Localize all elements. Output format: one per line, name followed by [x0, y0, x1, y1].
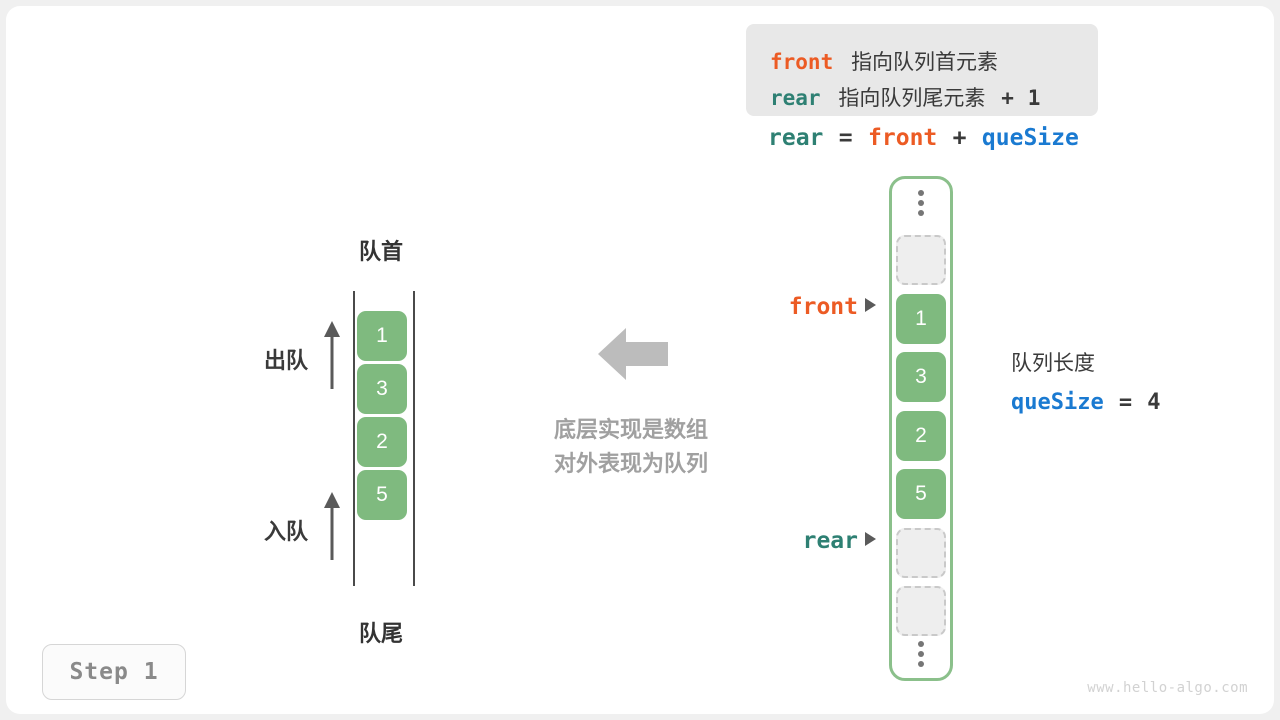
diagram-card: front 指向队列首元素 rear 指向队列尾元素 + 1 rear = fr…	[6, 6, 1274, 714]
quesize-equals: =	[1119, 390, 1132, 415]
array-bottom-ellipsis-icon	[892, 634, 950, 674]
enqueue-label: 入队	[218, 514, 308, 546]
queue-head-label: 队首	[311, 234, 451, 266]
center-caption-line1: 底层实现是数组	[511, 414, 751, 448]
queue-cell: 5	[357, 470, 407, 520]
dequeue-label: 出队	[218, 343, 308, 375]
array-cell-front: 1	[896, 294, 946, 344]
array-container: 1 3 2 5	[889, 176, 953, 681]
quesize-value-number: 4	[1147, 390, 1160, 415]
diagram-canvas: front 指向队列首元素 rear 指向队列尾元素 + 1 rear = fr…	[0, 0, 1280, 720]
queue-cell: 2	[357, 417, 407, 467]
array-cell: 3	[896, 352, 946, 402]
array-cell-empty-bottom	[896, 586, 946, 636]
rear-pointer-label: rear	[706, 527, 876, 554]
rear-formula: rear = front + queSize	[768, 124, 1079, 151]
array-cell-value: 3	[915, 365, 927, 389]
watermark: www.hello-algo.com	[1087, 680, 1248, 696]
legend-front-description: 指向队列首元素	[851, 50, 998, 74]
quesize-name: queSize	[1011, 390, 1104, 415]
legend-rear-row: rear 指向队列尾元素 + 1	[770, 82, 1040, 112]
formula-quesize: queSize	[982, 125, 1079, 151]
quesize-expression: queSize = 4	[1011, 389, 1160, 415]
array-top-ellipsis-icon	[892, 183, 950, 223]
array-cell-rear	[896, 528, 946, 578]
queue-rail-left	[353, 291, 355, 586]
queue-cell-value: 3	[376, 377, 388, 401]
dequeue-arrow-icon	[320, 321, 344, 389]
step-badge: Step 1	[42, 644, 186, 700]
array-cell-value: 1	[915, 307, 927, 331]
rear-pointer-text: rear	[803, 528, 858, 554]
array-cell-empty-top	[896, 235, 946, 285]
array-cell-value: 5	[915, 482, 927, 506]
rear-pointer-arrow-icon	[865, 532, 876, 546]
center-caption: 底层实现是数组 对外表现为队列	[511, 414, 751, 482]
left-arrow-icon	[598, 328, 668, 380]
queue-cell: 3	[357, 364, 407, 414]
quesize-note: 队列长度 queSize = 4	[1011, 347, 1160, 415]
queue-cell-value: 1	[376, 324, 388, 348]
legend-rear-plus: +	[1001, 86, 1014, 110]
legend-front-token: front	[770, 50, 833, 74]
formula-plus: +	[953, 125, 967, 151]
queue-cell: 1	[357, 311, 407, 361]
array-cell-value: 2	[915, 424, 927, 448]
quesize-title: 队列长度	[1011, 347, 1160, 377]
array-cell: 2	[896, 411, 946, 461]
legend-front-row: front 指向队列首元素	[770, 46, 998, 76]
array-cell-last: 5	[896, 469, 946, 519]
front-pointer-arrow-icon	[865, 298, 876, 312]
formula-equals: =	[839, 125, 853, 151]
enqueue-arrow-icon	[320, 492, 344, 560]
legend-rear-description: 指向队列尾元素	[838, 86, 985, 110]
legend-rear-token: rear	[770, 86, 821, 110]
legend-rear-one: 1	[1028, 86, 1041, 110]
front-pointer-text: front	[789, 294, 858, 320]
center-caption-line2: 对外表现为队列	[511, 448, 751, 482]
queue-cell-value: 5	[376, 483, 388, 507]
pointer-legend-box: front 指向队列首元素 rear 指向队列尾元素 + 1	[746, 24, 1098, 116]
formula-front: front	[868, 125, 937, 151]
queue-cell-value: 2	[376, 430, 388, 454]
front-pointer-label: front	[706, 293, 876, 320]
queue-rail-right	[413, 291, 415, 586]
formula-rear: rear	[768, 125, 823, 151]
queue-tail-label: 队尾	[311, 616, 451, 648]
